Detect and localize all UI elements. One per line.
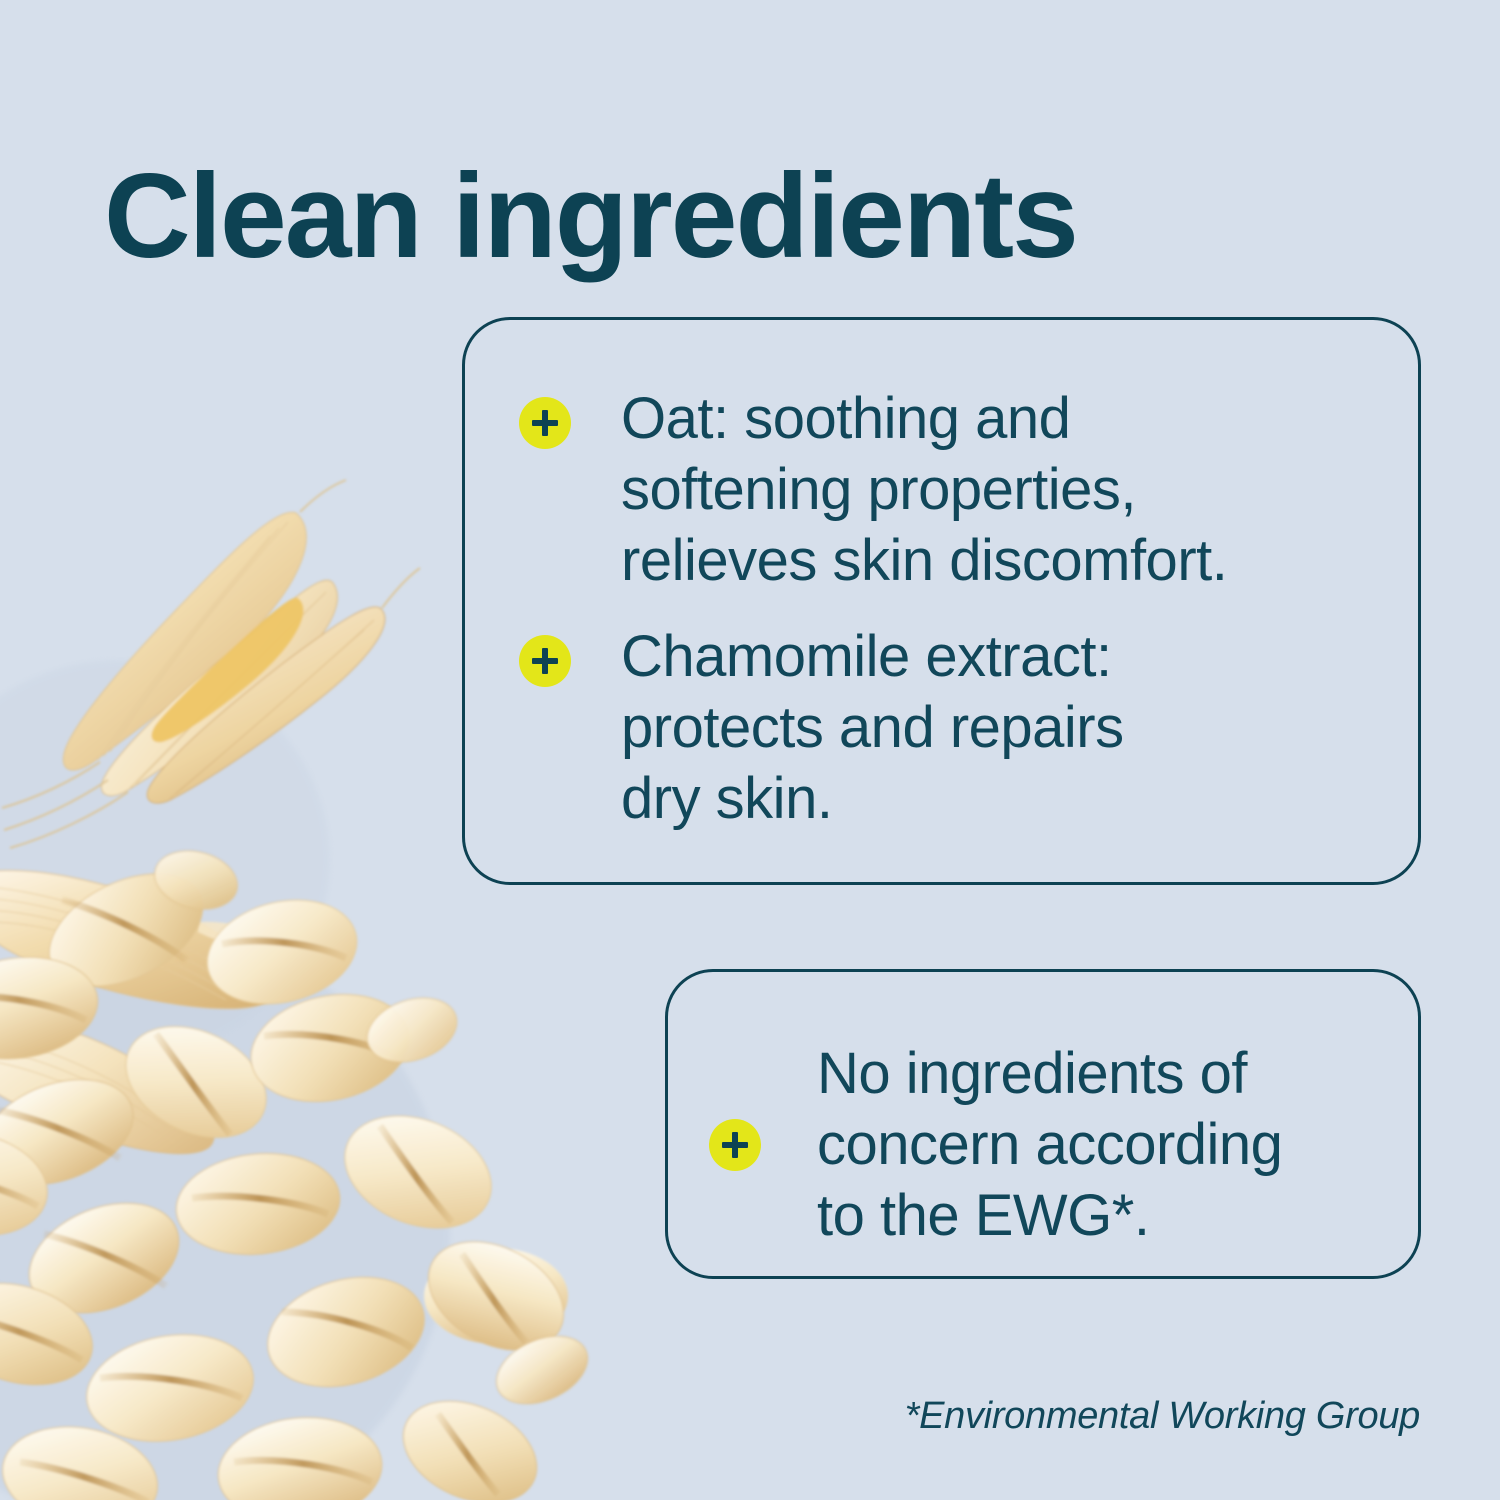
list-item-oat: Oat: soothing and softening properties, …: [519, 397, 1227, 596]
product-ingredients-panel: Clean ingredients Oat: soothing and soft…: [0, 0, 1500, 1500]
list-item-chamomile-label: Chamomile extract: protects and repairs …: [621, 621, 1124, 834]
page-title: Clean ingredients: [104, 152, 1077, 282]
list-item-oat-label: Oat: soothing and softening properties, …: [621, 383, 1227, 596]
list-item-chamomile: Chamomile extract: protects and repairs …: [519, 635, 1124, 834]
plus-icon: [519, 397, 571, 449]
list-item-ewg-label: No ingredients of concern according to t…: [817, 1038, 1282, 1251]
plus-icon: [709, 1119, 761, 1171]
footnote: *Environmental Working Group: [905, 1395, 1420, 1438]
list-item-ewg: No ingredients of concern according to t…: [709, 1038, 1282, 1251]
plus-icon: [519, 635, 571, 687]
